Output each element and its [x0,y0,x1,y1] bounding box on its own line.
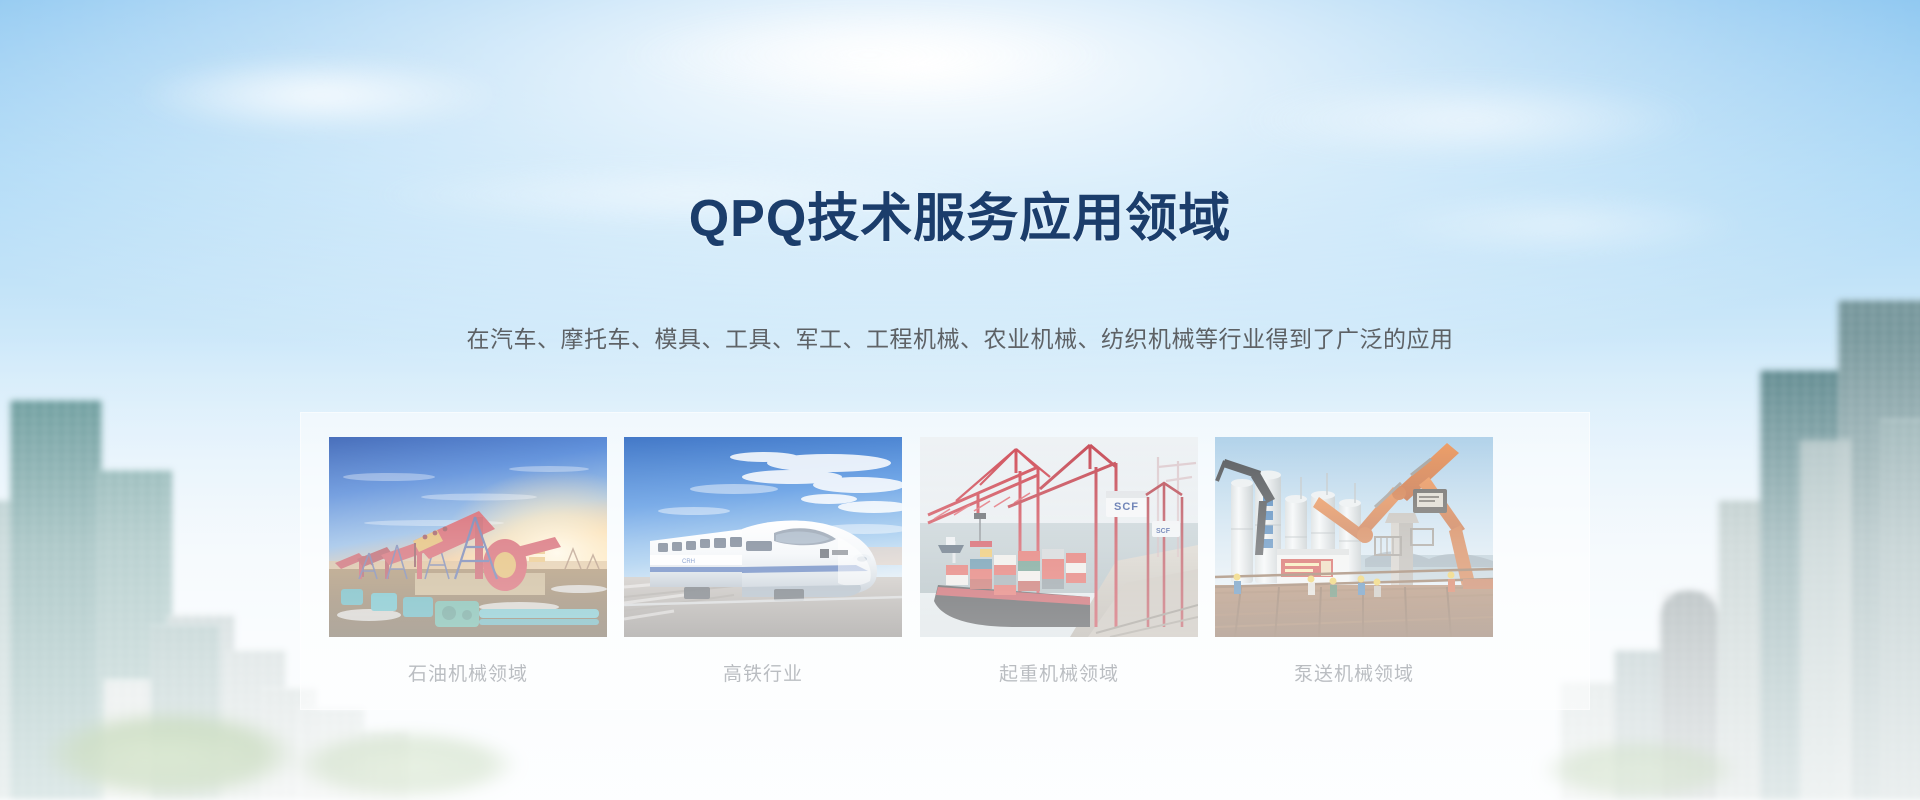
page-stage: QPQ技术服务应用领域 在汽车、摩托车、模具、工具、军工、工程机械、农业机械、纺… [0,0,1920,800]
atmospheric-haze-overlay [0,336,1920,800]
page-title: QPQ技术服务应用领域 [0,190,1920,250]
